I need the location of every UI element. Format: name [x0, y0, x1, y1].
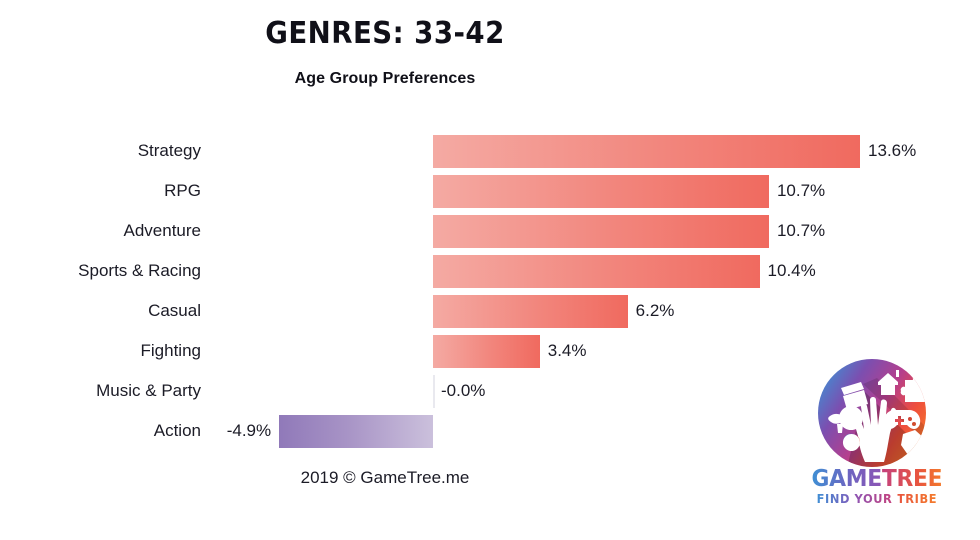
bar-positive[interactable]	[433, 255, 760, 288]
bar-category-label: Music & Party	[0, 371, 201, 411]
bar-positive[interactable]	[433, 175, 769, 208]
logo-tagline-tribe: TRIBE	[897, 492, 937, 506]
bar-positive[interactable]	[433, 215, 769, 248]
bar-positive[interactable]	[433, 135, 860, 168]
bar-category-label: Sports & Racing	[0, 251, 201, 291]
bar-category-label: Fighting	[0, 331, 201, 371]
gametree-wordmark: GAMETREE	[808, 467, 946, 491]
gametree-logo-mark	[817, 358, 927, 468]
chart-title: GENRES: 33-42	[31, 16, 739, 51]
bar-category-label: Strategy	[0, 131, 201, 171]
bar-value-label: 3.4%	[548, 331, 587, 371]
gametree-logo: GAMETREE FIND YOUR TRIBE	[808, 355, 972, 505]
bar-value-label: -0.0%	[441, 371, 485, 411]
logo-tagline-find: FIND	[817, 492, 850, 506]
bar-value-label: 13.6%	[868, 131, 916, 171]
bar-value-label: 10.7%	[777, 211, 825, 251]
bar-category-label: Adventure	[0, 211, 201, 251]
bar-value-label: -4.9%	[227, 411, 271, 451]
bar-row: RPG10.7%	[0, 171, 980, 211]
bar-negative[interactable]	[279, 415, 433, 448]
bar-row: Adventure10.7%	[0, 211, 980, 251]
bar-row: Sports & Racing10.4%	[0, 251, 980, 291]
bar-value-label: 10.7%	[777, 171, 825, 211]
zero-baseline-tick	[433, 375, 435, 408]
bar-category-label: RPG	[0, 171, 201, 211]
bar-row: Strategy13.6%	[0, 131, 980, 171]
chart-subtitle: Age Group Preferences	[0, 70, 770, 88]
bar-positive[interactable]	[433, 295, 628, 328]
logo-word-game: GAME	[811, 466, 881, 492]
footer-credit: 2019 © GameTree.me	[0, 468, 770, 488]
bar-positive[interactable]	[433, 335, 540, 368]
bar-value-label: 6.2%	[636, 291, 675, 331]
bar-category-label: Casual	[0, 291, 201, 331]
logo-tagline-your: YOUR	[855, 492, 893, 506]
bar-value-label: 10.4%	[768, 251, 816, 291]
bar-row: Casual6.2%	[0, 291, 980, 331]
bar-category-label: Action	[0, 411, 201, 451]
gametree-tagline: FIND YOUR TRIBE	[808, 492, 946, 506]
logo-word-tree: TREE	[882, 466, 942, 492]
